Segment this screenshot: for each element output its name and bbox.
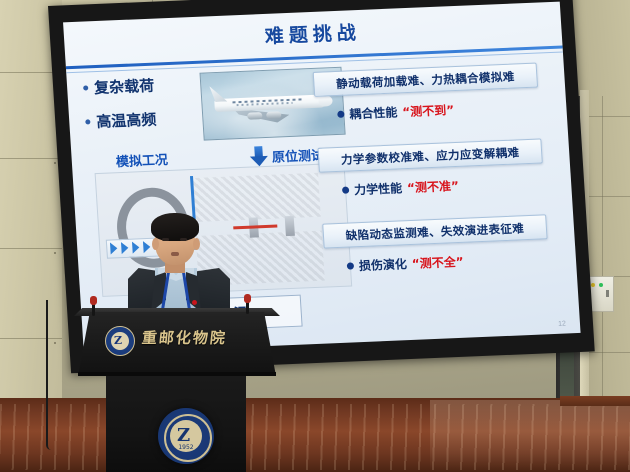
- challenge-bullet-1-text: 耦合性能: [349, 103, 398, 122]
- challenge-bullet-3-text: 损伤演化: [358, 255, 407, 274]
- bullet-dot-icon: [347, 262, 354, 269]
- left-bullet-2: 高温高频: [96, 109, 157, 132]
- floor-glare: [430, 400, 630, 472]
- challenge-header-2-text: 力学参数校准难、应力应变解耦难: [340, 144, 519, 167]
- conference-hall-scene: 难题挑战 复杂载荷 高温高频 模拟工况: [0, 0, 630, 472]
- challenge-header-3-text: 缺陷动态监测难、失效演进表征难: [345, 220, 524, 243]
- challenge-bullet-3: 损伤演化 “测不全”: [346, 253, 464, 275]
- slide-page-number: 12: [558, 321, 566, 328]
- microphone-head-right: [244, 294, 251, 303]
- challenge-header-1-text: 静动载荷加载难、力热耦合模拟难: [336, 68, 515, 91]
- challenge-header-1: 静动载荷加载难、力热耦合模拟难: [313, 63, 538, 97]
- challenge-bullet-2-highlight: “测不准”: [407, 177, 460, 196]
- challenge-bullet-2: 力学性能 “测不准”: [342, 177, 460, 199]
- bullet-dot-icon: [337, 111, 344, 118]
- wall-screw: [54, 162, 56, 164]
- floor-skirting: [560, 396, 630, 406]
- wall-screw: [54, 342, 56, 344]
- bullet-dot-icon: [342, 187, 349, 194]
- left-bullet-dot: [85, 119, 90, 124]
- emblem-year: 1952: [172, 444, 200, 451]
- wall-screw: [54, 252, 56, 254]
- microphone-head-left: [90, 296, 97, 305]
- podium-plaque-text: 重邮化物院: [141, 327, 228, 348]
- challenge-bullet-1: 耦合性能 “测不到”: [337, 101, 455, 123]
- flow-to-label: 原位测试: [271, 145, 324, 166]
- left-bullet-dot: [83, 85, 88, 90]
- challenge-bullet-2-text: 力学性能: [354, 179, 403, 198]
- podium-logo-initial: Z: [114, 334, 122, 347]
- lapel-pin-icon: [192, 300, 197, 305]
- hair: [151, 213, 199, 241]
- power-cable: [46, 300, 51, 450]
- flow-from-label: 模拟工况: [115, 149, 168, 170]
- challenge-header-2: 力学参数校准难、应力应变解耦难: [317, 138, 542, 172]
- challenge-header-3: 缺陷动态监测难、失效演进表征难: [322, 214, 547, 248]
- challenge-bullet-3-highlight: “测不全”: [411, 253, 464, 272]
- challenge-bullet-1-highlight: “测不到”: [402, 101, 455, 120]
- emblem-initial: Z: [177, 425, 190, 446]
- left-bullet-1: 复杂载荷: [94, 75, 155, 98]
